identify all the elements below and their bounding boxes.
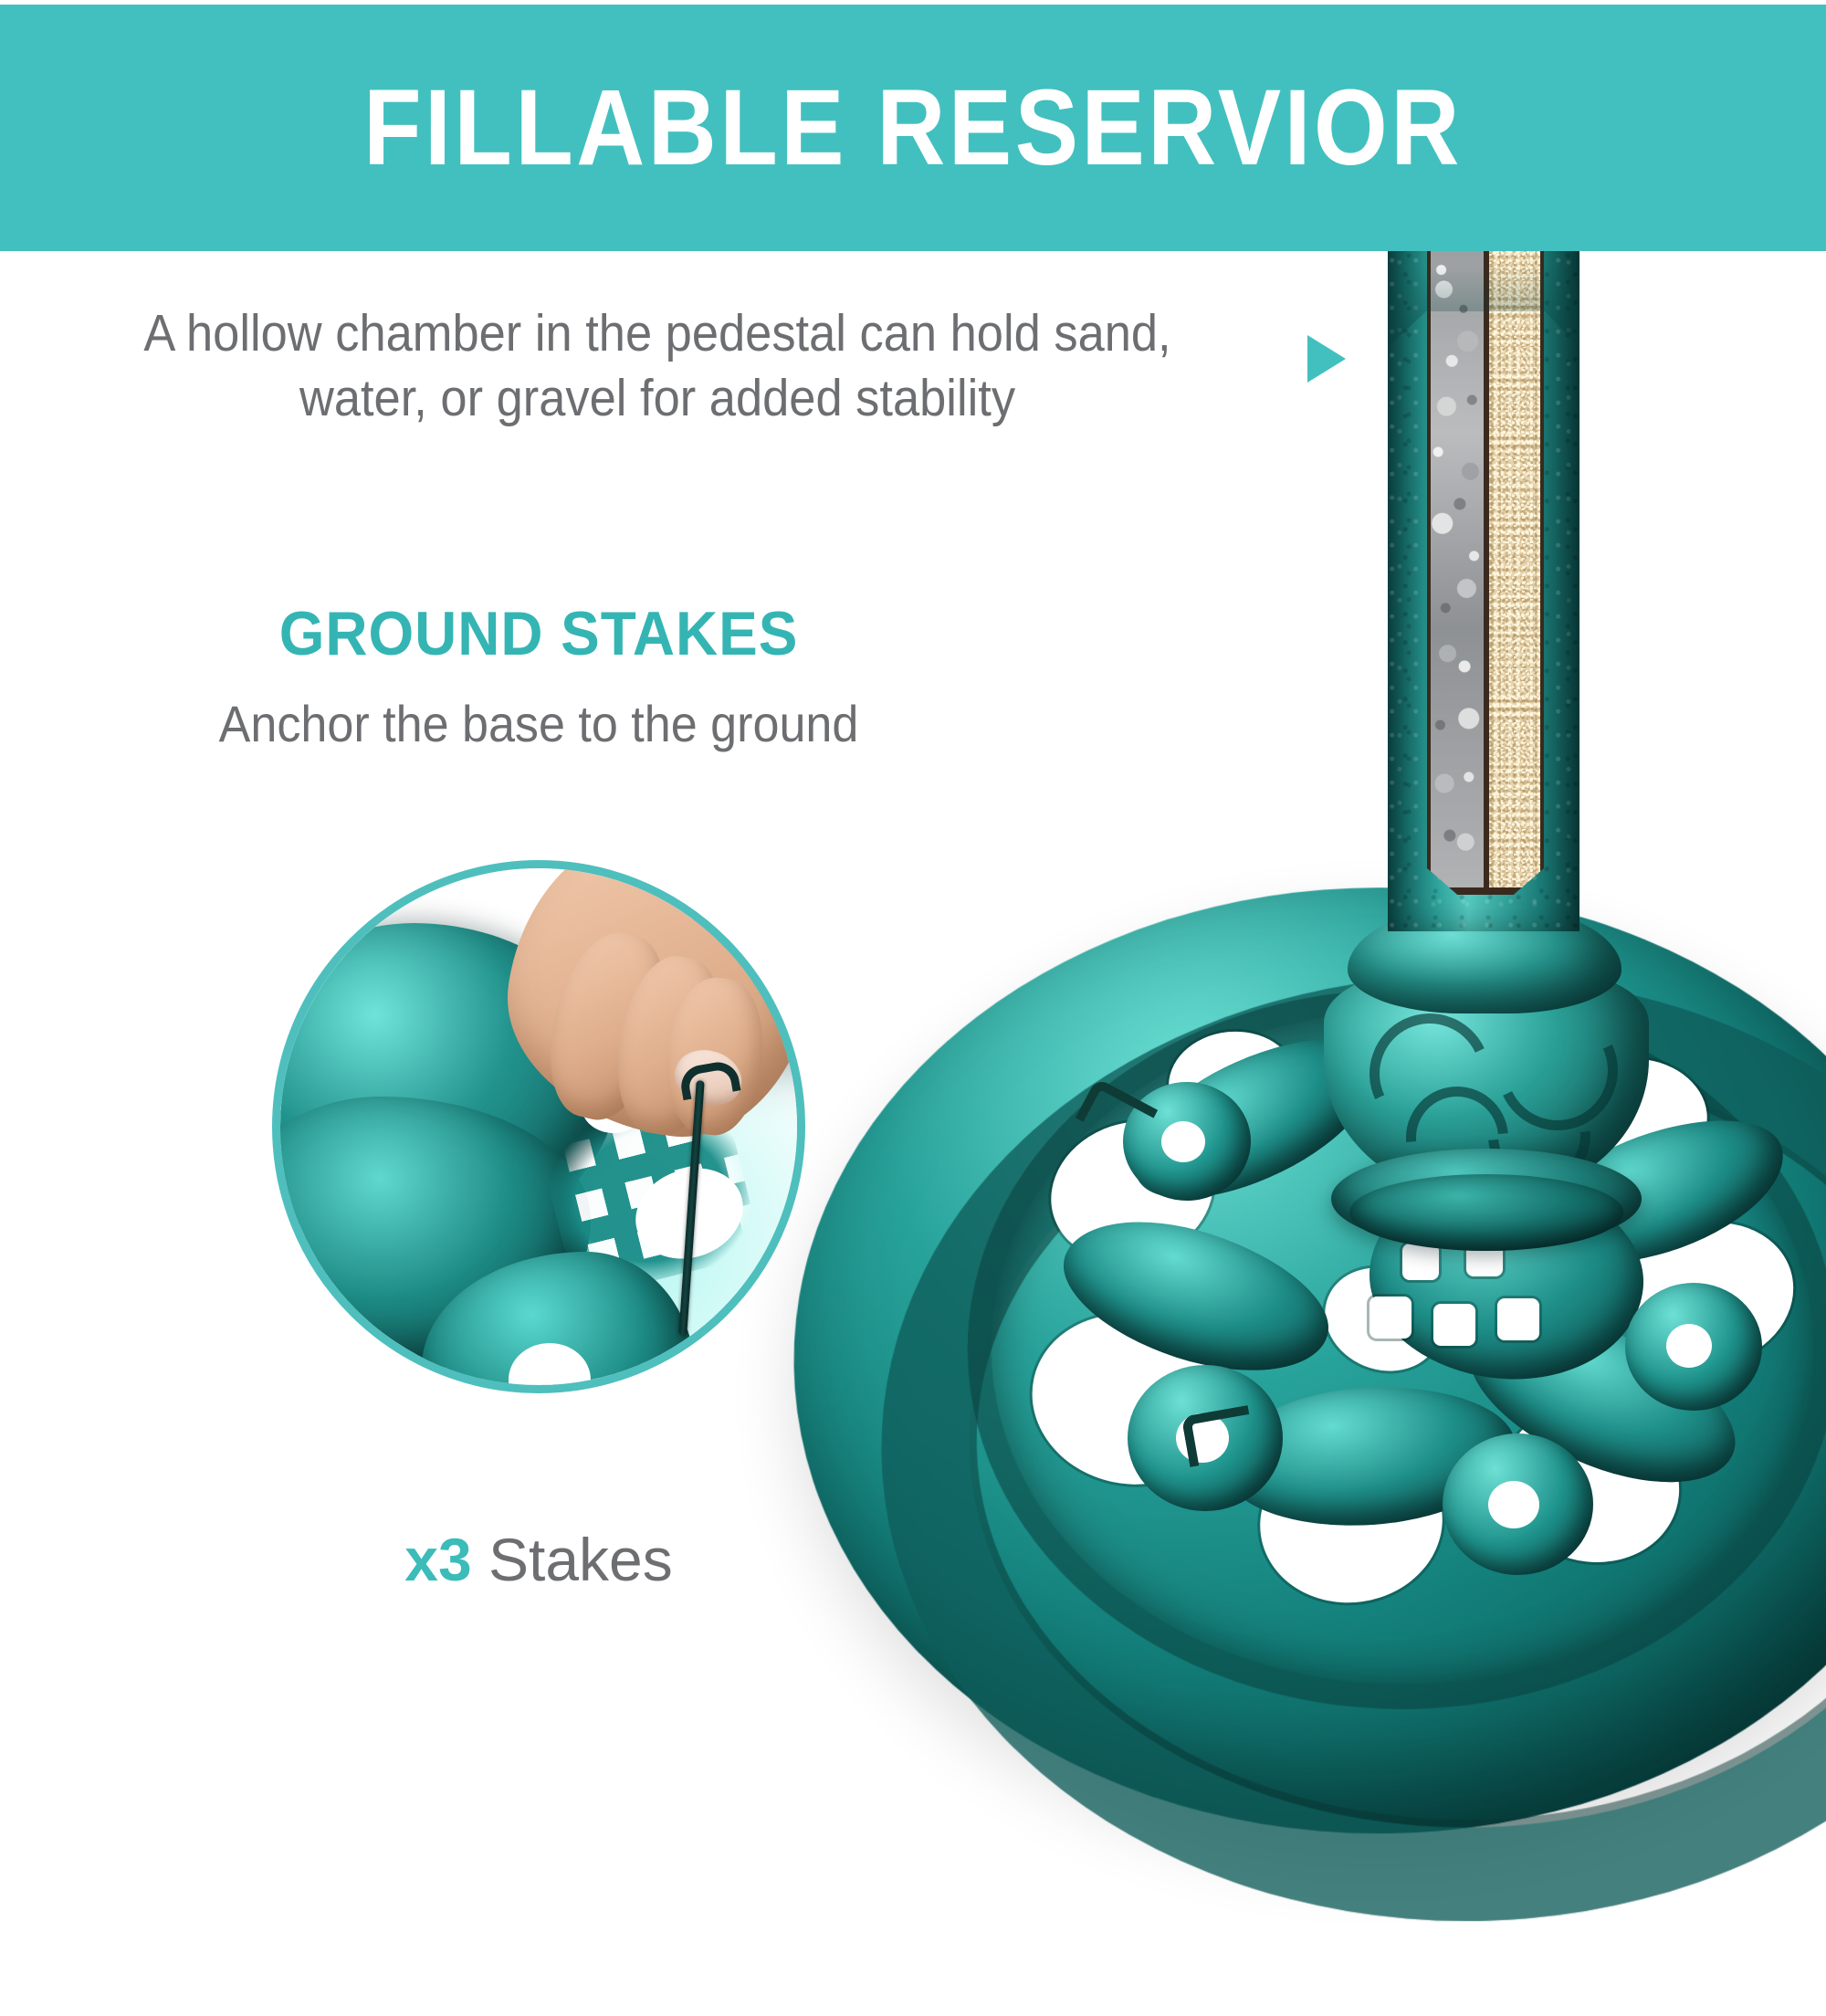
- intro-description-text: A hollow chamber in the pedestal can hol…: [103, 301, 1212, 432]
- header-banner: FILLABLE RESERVIOR: [0, 5, 1826, 251]
- product-photo: [895, 210, 1826, 1826]
- reservoir-cutaway-window: [1427, 230, 1544, 895]
- base-lattice-void: [1402, 1244, 1439, 1280]
- gravel-fill: [1431, 237, 1484, 887]
- base-lattice-void: [1433, 1304, 1475, 1346]
- play-triangle-right-icon: [1307, 335, 1346, 383]
- sand-texture: [1489, 237, 1540, 887]
- gravel-texture: [1431, 237, 1484, 887]
- inset-photo-content: [280, 868, 797, 1385]
- ground-stake-inset-photo: [272, 860, 805, 1393]
- base-scroll-curl-eye: [1666, 1324, 1712, 1368]
- ground-stakes-section: GROUND STAKES Anchor the base to the gro…: [128, 598, 950, 755]
- page-title: FILLABLE RESERVIOR: [363, 74, 1463, 182]
- base-neck-ring-inner: [1349, 1174, 1623, 1251]
- base-lattice-void: [1497, 1298, 1539, 1340]
- ground-stakes-heading: GROUND STAKES: [152, 598, 925, 669]
- base-scroll-curl-eye: [1488, 1481, 1539, 1528]
- stakes-count-label: Stakes: [472, 1526, 673, 1593]
- stakes-count-number: x3: [404, 1526, 471, 1593]
- base-scroll-curl-eye: [1161, 1121, 1205, 1162]
- intro-description-block: A hollow chamber in the pedestal can hol…: [55, 301, 1260, 432]
- stakes-count-caption: x3 Stakes: [128, 1525, 950, 1594]
- ground-stakes-subtitle: Anchor the base to the ground: [157, 693, 921, 755]
- sand-fill: [1489, 237, 1540, 887]
- base-lattice-void: [1369, 1297, 1411, 1339]
